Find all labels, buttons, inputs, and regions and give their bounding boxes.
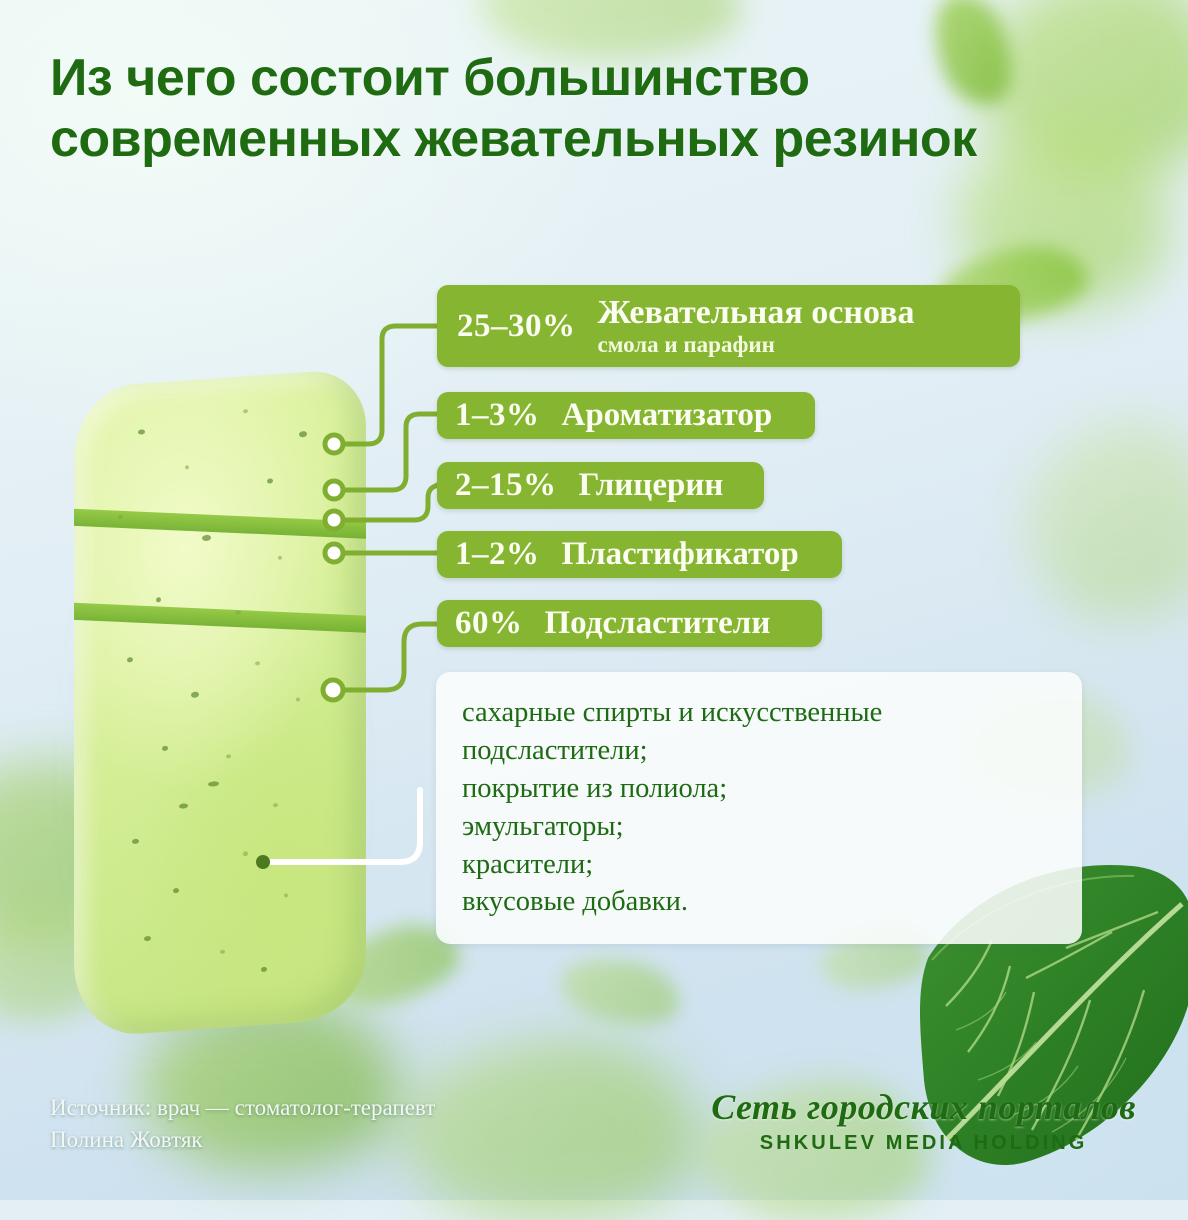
chewing-gum-illustration: [74, 378, 366, 1028]
callout-name: Пластификатор: [562, 536, 799, 573]
page-title: Из чего состоит большинство современных …: [50, 48, 1060, 171]
callout-name: Жевательная основа: [598, 295, 915, 330]
list-item: сахарные спирты и искусственные: [462, 694, 1056, 732]
list-item: красители;: [462, 846, 1056, 884]
sweetener-details-box: сахарные спирты и искусственные подсласт…: [436, 672, 1082, 944]
logo-script-text: Сеть городских порталов: [711, 1086, 1136, 1128]
callout-percent: 1–3%: [455, 397, 540, 434]
list-item: покрытие из полиола;: [462, 770, 1056, 808]
callout-subtitle: смола и парафин: [598, 333, 915, 357]
source-line-1: Источник: врач — стоматолог-терапевт: [50, 1092, 435, 1124]
source-credit: Источник: врач — стоматолог-терапевт Пол…: [50, 1092, 435, 1155]
callout-name: Подсластители: [545, 605, 771, 642]
callout-percent: 1–2%: [455, 536, 540, 573]
publisher-logo: Сеть городских порталов SHKULEV MEDIA HO…: [711, 1086, 1136, 1155]
list-item: подсластители;: [462, 732, 1056, 770]
callout-flavoring[interactable]: 1–3% Ароматизатор: [437, 392, 815, 439]
callout-name: Глицерин: [579, 467, 724, 504]
callout-percent: 2–15%: [455, 467, 557, 504]
list-item: эмульгаторы;: [462, 808, 1056, 846]
gum-body: [74, 368, 366, 1038]
callout-name: Ароматизатор: [562, 397, 773, 434]
callout-percent: 60%: [455, 605, 523, 642]
source-line-2: Полина Жовтяк: [50, 1124, 435, 1156]
callout-sweeteners[interactable]: 60% Подсластители: [437, 600, 822, 647]
gum-stripe-lower: [74, 602, 366, 634]
callout-glycerin[interactable]: 2–15% Глицерин: [437, 462, 764, 509]
callout-plasticizer[interactable]: 1–2% Пластификатор: [437, 531, 842, 578]
gum-stripe-upper: [74, 508, 366, 540]
callout-percent: 25–30%: [457, 308, 576, 345]
list-item: вкусовые добавки.: [462, 883, 1056, 921]
callout-chewing-base[interactable]: 25–30% Жевательная основа смола и парафи…: [437, 285, 1020, 367]
logo-wordmark: SHKULEV MEDIA HOLDING: [711, 1132, 1136, 1155]
